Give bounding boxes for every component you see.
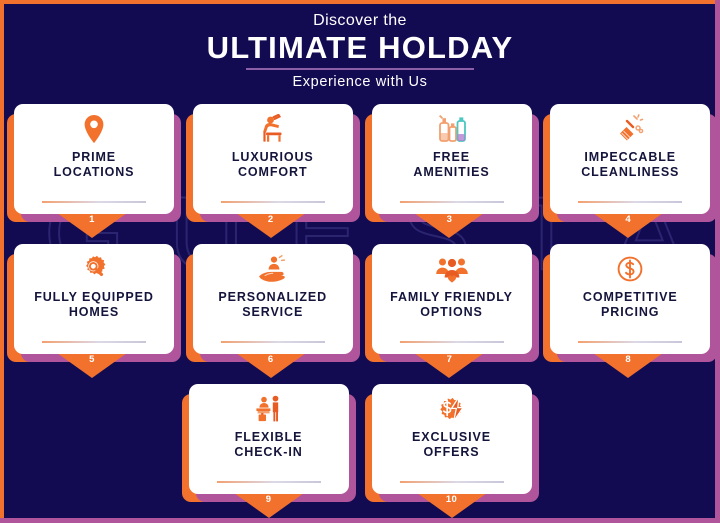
frame-border-bottom bbox=[0, 518, 720, 523]
card-title: EXCLUSIVE OFFERS bbox=[408, 430, 495, 460]
card-body[interactable]: FLEXIBLE CHECK-IN bbox=[189, 384, 349, 494]
frame-border-right bbox=[715, 0, 720, 523]
card-title: FAMILY FRIENDLY OPTIONS bbox=[386, 290, 517, 320]
reception-desk-icon bbox=[252, 393, 286, 425]
feature-card-2[interactable]: 2 LUXURIOUS COMFORT bbox=[193, 104, 349, 222]
header-subtitle: Experience with Us bbox=[0, 72, 720, 92]
card-body[interactable]: PRIME LOCATIONS bbox=[14, 104, 174, 214]
card-title: FLEXIBLE CHECK-IN bbox=[230, 430, 306, 460]
feature-card-5[interactable]: 5 FULLY EQUIPPED HOMES bbox=[14, 244, 170, 362]
feature-card-7[interactable]: 7 FAMILY FRIENDLY O bbox=[372, 244, 528, 362]
discount-bolt-icon bbox=[435, 393, 469, 425]
card-divider bbox=[400, 481, 504, 483]
feature-card-4[interactable]: 4 bbox=[550, 104, 706, 222]
card-number-pennant: 9 bbox=[234, 493, 304, 518]
card-divider bbox=[400, 201, 504, 203]
card-title: PRIME LOCATIONS bbox=[50, 150, 139, 180]
card-number-label: 9 bbox=[234, 494, 304, 505]
card-divider bbox=[42, 341, 146, 343]
card-number-label: 6 bbox=[236, 354, 306, 365]
card-number-label: 3 bbox=[414, 214, 484, 225]
card-number-pennant: 2 bbox=[236, 213, 306, 238]
card-divider bbox=[400, 341, 504, 343]
card-number-pennant: 6 bbox=[236, 353, 306, 378]
card-number-pennant: 4 bbox=[593, 213, 663, 238]
gear-search-icon bbox=[79, 253, 109, 285]
card-title: LUXURIOUS COMFORT bbox=[228, 150, 318, 180]
card-divider bbox=[221, 201, 325, 203]
card-number-pennant: 10 bbox=[417, 493, 487, 518]
card-body[interactable]: COMPETITIVE PRICING bbox=[550, 244, 710, 354]
card-number-label: 2 bbox=[236, 214, 306, 225]
card-number-pennant: 5 bbox=[57, 353, 127, 378]
card-number-label: 8 bbox=[593, 354, 663, 365]
feature-card-3[interactable]: 3 bbox=[372, 104, 528, 222]
feature-row-3: 9 bbox=[14, 384, 706, 502]
card-number-label: 1 bbox=[57, 214, 127, 225]
card-title: COMPETITIVE PRICING bbox=[579, 290, 682, 320]
feature-row-2: 5 FULLY EQUIPPED HOMES bbox=[14, 244, 706, 362]
card-body[interactable]: PERSONALIZED SERVICE bbox=[193, 244, 353, 354]
card-title: FULLY EQUIPPED HOMES bbox=[30, 290, 158, 320]
card-number-pennant: 3 bbox=[414, 213, 484, 238]
card-body[interactable]: FULLY EQUIPPED HOMES bbox=[14, 244, 174, 354]
card-title: FREE AMENITIES bbox=[409, 150, 493, 180]
family-group-icon bbox=[434, 253, 470, 285]
dollar-coin-icon bbox=[615, 253, 645, 285]
card-body[interactable]: LUXURIOUS COMFORT bbox=[193, 104, 353, 214]
card-divider bbox=[42, 201, 146, 203]
feature-card-8[interactable]: 8 COMPETITIVE PRICING bbox=[550, 244, 706, 362]
card-number-pennant: 8 bbox=[593, 353, 663, 378]
frame-border-left bbox=[0, 0, 4, 523]
card-divider bbox=[221, 341, 325, 343]
header-divider bbox=[246, 68, 474, 70]
card-number-label: 10 bbox=[417, 494, 487, 505]
card-number-pennant: 1 bbox=[57, 213, 127, 238]
card-divider bbox=[578, 341, 682, 343]
feature-card-6[interactable]: 6 PERSONALIZED SERVICE bbox=[193, 244, 349, 362]
map-pin-icon bbox=[81, 113, 107, 145]
card-divider bbox=[217, 481, 321, 483]
feature-card-1[interactable]: 1 PRIME LOCATIONS bbox=[14, 104, 170, 222]
card-number-label: 5 bbox=[57, 354, 127, 365]
card-number-label: 4 bbox=[593, 214, 663, 225]
card-body[interactable]: FAMILY FRIENDLY OPTIONS bbox=[372, 244, 532, 354]
card-number-label: 7 bbox=[414, 354, 484, 365]
card-divider bbox=[578, 201, 682, 203]
feature-card-9[interactable]: 9 bbox=[189, 384, 349, 502]
card-title: PERSONALIZED SERVICE bbox=[214, 290, 331, 320]
feature-card-10[interactable]: 10 EXCLUSIVE OFFERS bbox=[372, 384, 532, 502]
card-body[interactable]: FREE AMENITIES bbox=[372, 104, 532, 214]
infographic-page: GUESTA Discover the ULTIMATE HOLDAY Expe… bbox=[0, 0, 720, 523]
header: Discover the ULTIMATE HOLDAY Experience … bbox=[0, 0, 720, 92]
header-eyebrow: Discover the bbox=[0, 10, 720, 32]
card-number-pennant: 7 bbox=[414, 353, 484, 378]
feature-row-1: 1 PRIME LOCATIONS bbox=[14, 104, 706, 222]
card-title: IMPECCABLE CLEANLINESS bbox=[577, 150, 683, 180]
frame-border-top bbox=[0, 0, 720, 4]
card-body[interactable]: IMPECCABLE CLEANLINESS bbox=[550, 104, 710, 214]
hand-person-icon bbox=[256, 253, 290, 285]
lounge-chair-icon bbox=[257, 113, 289, 145]
broom-icon bbox=[614, 113, 646, 145]
feature-grid: 1 PRIME LOCATIONS bbox=[0, 104, 720, 502]
card-body[interactable]: EXCLUSIVE OFFERS bbox=[372, 384, 532, 494]
page-title: ULTIMATE HOLDAY bbox=[0, 31, 720, 65]
toiletries-icon bbox=[435, 113, 469, 145]
